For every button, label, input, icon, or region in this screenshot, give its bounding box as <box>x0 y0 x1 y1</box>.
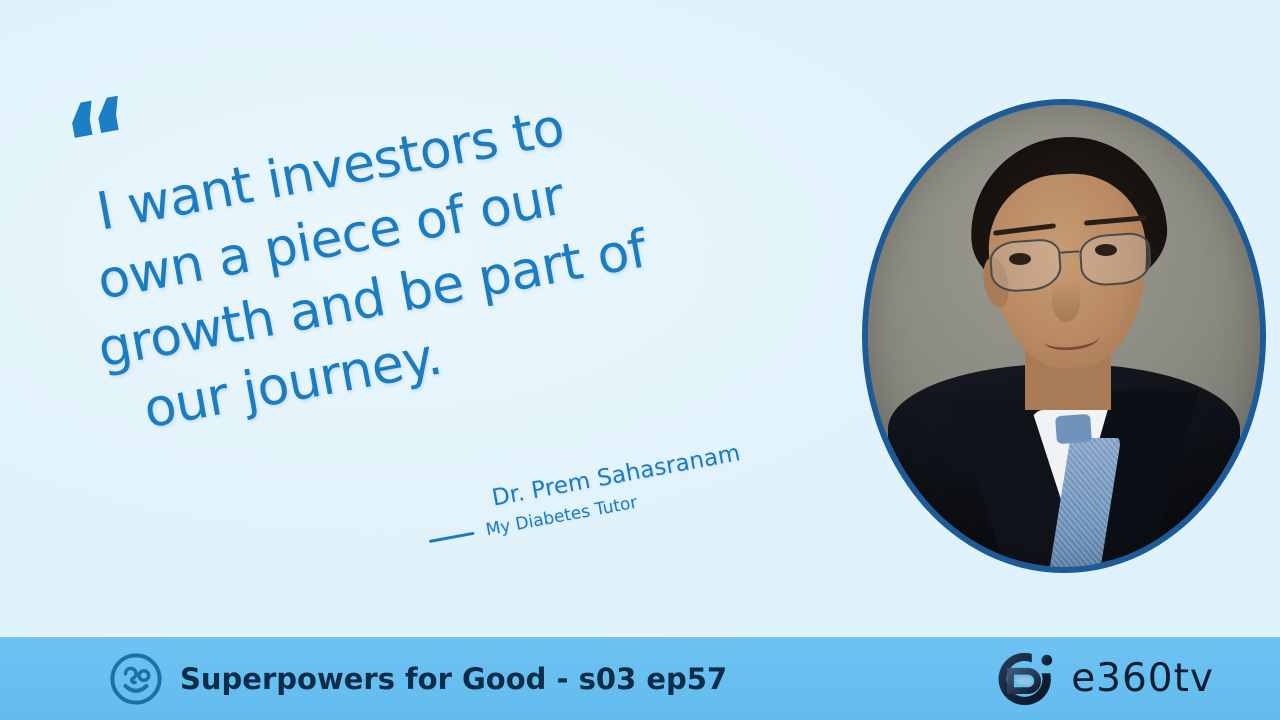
glasses-bridge <box>1059 250 1078 253</box>
brand-logo[interactable]: e360tv <box>995 648 1214 710</box>
attribution-dash-icon <box>429 531 475 542</box>
portrait-nose <box>1052 281 1079 323</box>
quote-block: “ I want investors to own a piece of our… <box>46 0 914 453</box>
glasses-lens-right <box>1078 231 1152 287</box>
quote-card: “ I want investors to own a piece of our… <box>0 0 1280 720</box>
bottom-bar: Superpowers for Good - s03 ep57 <box>0 637 1280 720</box>
portrait-eye-right <box>1095 244 1117 256</box>
brand-text: e360tv <box>1071 656 1214 701</box>
attribution: Dr. Prem Sahasranam My Diabetes Tutor <box>490 440 747 538</box>
smiley-face-icon <box>108 651 164 707</box>
portrait-tie-knot <box>1055 413 1092 443</box>
speaker-portrait <box>862 99 1266 573</box>
e360tv-mark-icon <box>995 648 1057 710</box>
portrait-photo <box>868 105 1260 567</box>
portrait-eye-left <box>1009 253 1031 265</box>
show-title: Superpowers for Good - s03 ep57 <box>180 662 727 696</box>
glasses-lens-left <box>988 237 1062 293</box>
show-branding: Superpowers for Good - s03 ep57 <box>108 651 727 707</box>
